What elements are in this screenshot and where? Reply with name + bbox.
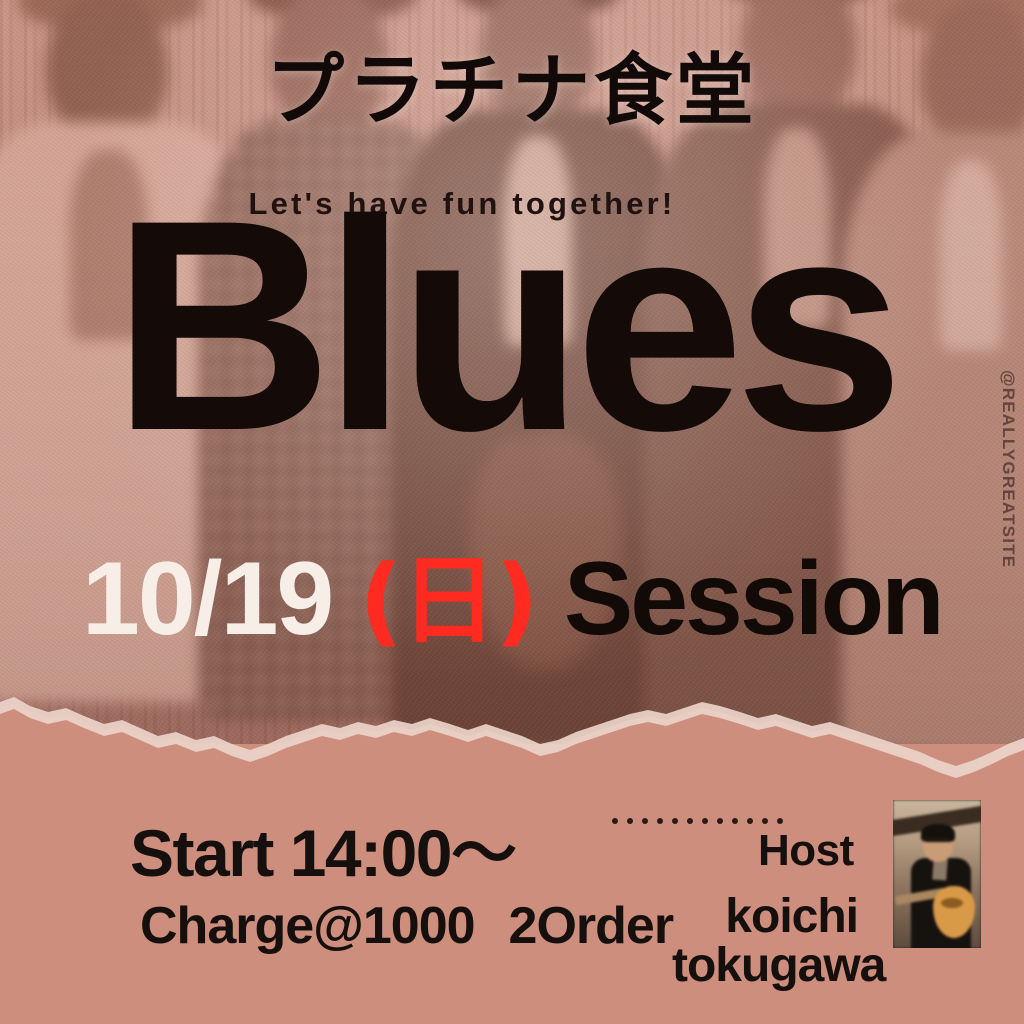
charge-amount: Charge@1000 [140, 897, 475, 955]
headline-blues: Blues [112, 196, 894, 454]
charge-info: Charge@10002Order [140, 896, 673, 956]
leader-dot [612, 818, 618, 824]
leader-dot [687, 818, 693, 824]
host-name: koichi tokugawa [672, 893, 858, 991]
host-last-name: tokugawa [672, 942, 858, 991]
leader-dot [747, 818, 753, 824]
leader-dot [627, 818, 633, 824]
leader-dot [642, 818, 648, 824]
leader-dot [732, 818, 738, 824]
host-photo [893, 800, 981, 948]
glasses-icon [923, 838, 949, 844]
blues-session-poster: プラチナ食堂 Let's have fun together! Blues 10… [0, 0, 1024, 1024]
host-first-name: koichi [672, 893, 858, 942]
watermark-handle: @REALLYGREATSITE [998, 370, 1018, 568]
leader-dot [777, 818, 783, 824]
leader-dot [657, 818, 663, 824]
leader-dot [702, 818, 708, 824]
date-number: 10/19 [82, 541, 332, 657]
host-label: Host [758, 826, 854, 876]
order-minimum: 2Order [509, 897, 674, 955]
leader-dot [672, 818, 678, 824]
start-time: Start 14:00〜 [130, 800, 516, 896]
guitar-soundhole-shape [941, 898, 963, 908]
leader-dot [717, 818, 723, 824]
venue-title-japanese: プラチナ食堂 [0, 52, 1024, 130]
host-photo-inner [893, 800, 981, 948]
event-type-session: Session [564, 541, 942, 657]
dotted-leader [612, 818, 783, 824]
date-line: 10/19 (日) Session [82, 547, 942, 651]
date-weekday: (日) [359, 545, 537, 657]
leader-dot [762, 818, 768, 824]
